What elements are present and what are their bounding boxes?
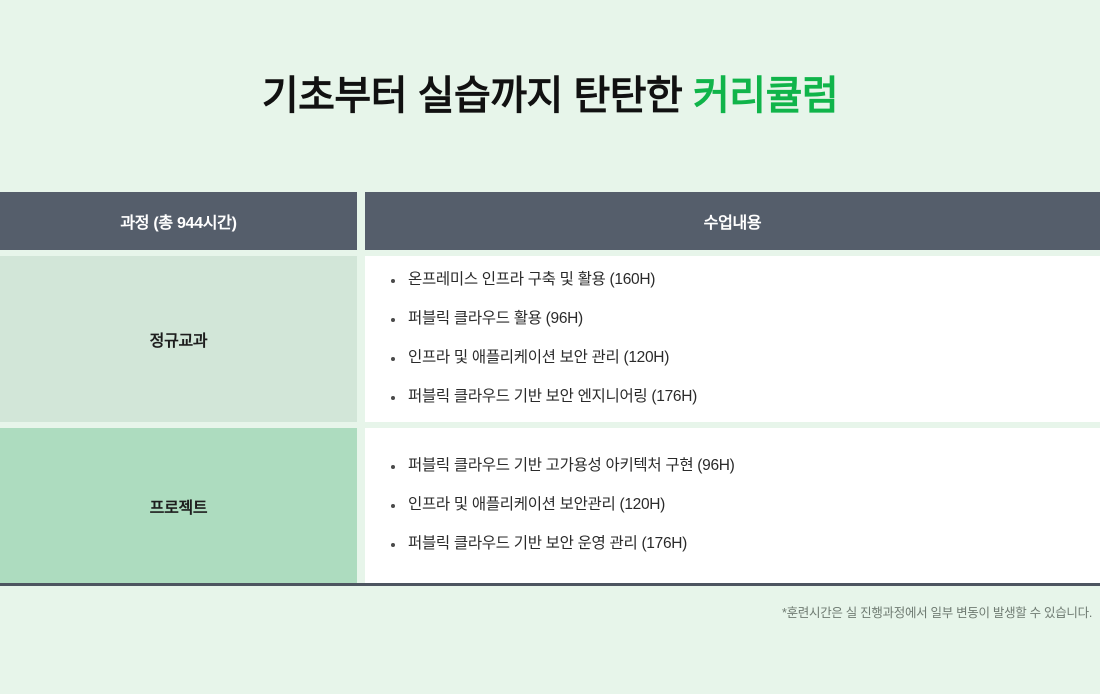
page-title: 기초부터 실습까지 탄탄한 커리큘럼 xyxy=(262,74,838,118)
curriculum-table: 과정 (총 944시간) 수업내용 정규교과 온프레미스 인프라 구축 및 활용… xyxy=(0,192,1100,586)
list-item: 퍼블릭 클라우드 기반 보안 엔지니어링 (176H) xyxy=(391,378,1100,417)
bullet-dot-icon xyxy=(391,396,395,400)
bullet-dot-icon xyxy=(391,504,395,508)
list-item-label: 인프라 및 애플리케이션 보안 관리 (120H) xyxy=(408,348,669,369)
list-item-label: 인프라 및 애플리케이션 보안관리 (120H) xyxy=(408,495,665,516)
table-header-row: 과정 (총 944시간) 수업내용 xyxy=(0,192,1100,250)
list-item: 퍼블릭 클라우드 기반 보안 운영 관리 (176H) xyxy=(391,525,1100,564)
bullet-dot-icon xyxy=(391,465,395,469)
list-item: 퍼블릭 클라우드 활용 (96H) xyxy=(391,300,1100,339)
bullet-dot-icon xyxy=(391,357,395,361)
page-title-main: 기초부터 실습까지 탄탄한 xyxy=(262,74,693,118)
column-header-course-label: 과정 (총 944시간) xyxy=(120,209,236,233)
title-section: 기초부터 실습까지 탄탄한 커리큘럼 xyxy=(0,0,1100,192)
list-item: 퍼블릭 클라우드 기반 고가용성 아키텍처 구현 (96H) xyxy=(391,447,1100,486)
row-label-regular-course: 정규교과 xyxy=(0,256,357,422)
row-content-project: 퍼블릭 클라우드 기반 고가용성 아키텍처 구현 (96H) 인프라 및 애플리… xyxy=(365,428,1100,583)
list-item-label: 퍼블릭 클라우드 기반 고가용성 아키텍처 구현 (96H) xyxy=(408,456,735,477)
table-row: 프로젝트 퍼블릭 클라우드 기반 고가용성 아키텍처 구현 (96H) 인프라 … xyxy=(0,428,1100,583)
row-label-text: 정규교과 xyxy=(150,327,208,351)
page-title-accent: 커리큘럼 xyxy=(693,74,838,118)
list-item-label: 퍼블릭 클라우드 기반 보안 운영 관리 (176H) xyxy=(408,534,687,555)
footnote-section: *훈련시간은 실 진행과정에서 일부 변동이 발생할 수 있습니다. xyxy=(0,586,1100,621)
list-item: 인프라 및 애플리케이션 보안관리 (120H) xyxy=(391,486,1100,525)
row-label-project: 프로젝트 xyxy=(0,428,357,583)
column-header-content-label: 수업내용 xyxy=(704,209,762,233)
bullet-dot-icon xyxy=(391,318,395,322)
column-header-course: 과정 (총 944시간) xyxy=(0,192,357,250)
footnote-text: *훈련시간은 실 진행과정에서 일부 변동이 발생할 수 있습니다. xyxy=(782,602,1092,621)
row-label-text: 프로젝트 xyxy=(150,494,208,518)
list-item-label: 퍼블릭 클라우드 활용 (96H) xyxy=(408,309,583,330)
list-item: 온프레미스 인프라 구축 및 활용 (160H) xyxy=(391,261,1100,300)
bullet-dot-icon xyxy=(391,543,395,547)
bullet-dot-icon xyxy=(391,279,395,283)
column-header-content: 수업내용 xyxy=(365,192,1100,250)
list-item-label: 퍼블릭 클라우드 기반 보안 엔지니어링 (176H) xyxy=(408,387,697,408)
list-item-label: 온프레미스 인프라 구축 및 활용 (160H) xyxy=(408,270,655,291)
table-row: 정규교과 온프레미스 인프라 구축 및 활용 (160H) 퍼블릭 클라우드 활… xyxy=(0,256,1100,422)
row-content-regular-course: 온프레미스 인프라 구축 및 활용 (160H) 퍼블릭 클라우드 활용 (96… xyxy=(365,256,1100,422)
list-item: 인프라 및 애플리케이션 보안 관리 (120H) xyxy=(391,339,1100,378)
